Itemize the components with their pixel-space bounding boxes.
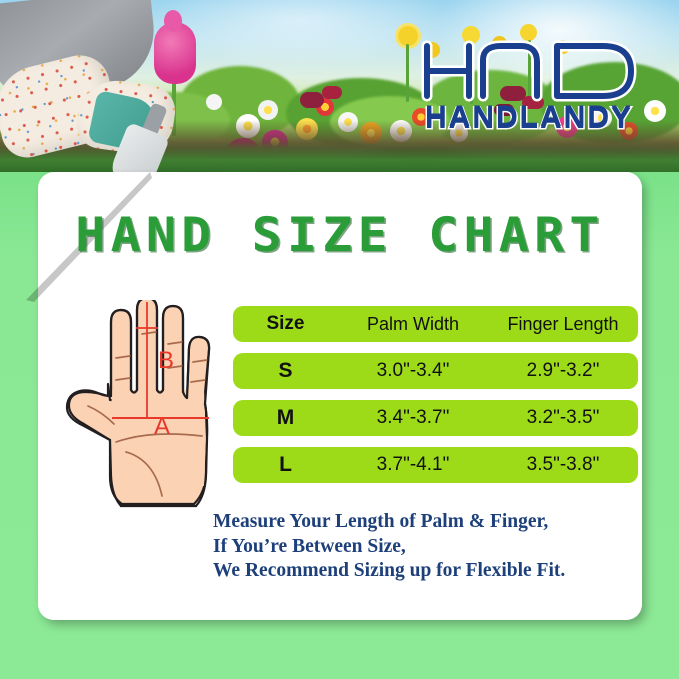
header-finger-length: Finger Length bbox=[488, 314, 638, 335]
header-palm-width: Palm Width bbox=[338, 314, 488, 335]
table-header-row: Size Palm Width Finger Length bbox=[233, 306, 638, 342]
cell-size: S bbox=[233, 359, 338, 383]
table-row: L 3.7"-4.1" 3.5"-3.8" bbox=[233, 447, 638, 483]
flower-primula bbox=[322, 86, 342, 99]
header-size: Size bbox=[233, 313, 338, 335]
flower-primula bbox=[300, 92, 324, 108]
hand-label-a: A bbox=[154, 413, 170, 440]
flower-hyacinth bbox=[164, 10, 182, 32]
sizing-note: Measure Your Length of Palm & Finger, If… bbox=[213, 510, 565, 584]
hero-banner: HANDLANDY HANDLANDY bbox=[0, 0, 679, 172]
cell-finger-length: 3.2"-3.5" bbox=[488, 407, 638, 429]
hnd-logo-mark-icon bbox=[417, 38, 641, 104]
flower-daffodil bbox=[398, 26, 418, 46]
cell-finger-length: 2.9"-3.2" bbox=[488, 360, 638, 382]
flower-stem bbox=[406, 44, 409, 102]
sizing-note-line-2: If You’re Between Size, bbox=[213, 535, 565, 560]
brand-logo: HANDLANDY HANDLANDY bbox=[417, 38, 641, 142]
flower-primula bbox=[644, 100, 666, 122]
size-table: Size Palm Width Finger Length S 3.0"-3.4… bbox=[233, 306, 638, 483]
table-row: M 3.4"-3.7" 3.2"-3.5" bbox=[233, 400, 638, 436]
brand-wordmark-fill: HANDLANDY bbox=[417, 100, 641, 134]
page-title: HAND SIZE CHART bbox=[20, 208, 660, 263]
cell-size: M bbox=[233, 406, 338, 430]
page-root: HANDLANDY HANDLANDY HAND SIZE CHART bbox=[0, 0, 679, 679]
hand-label-b: B bbox=[158, 347, 174, 374]
flower-primula bbox=[258, 100, 278, 120]
table-row: S 3.0"-3.4" 2.9"-3.2" bbox=[233, 353, 638, 389]
cell-finger-length: 3.5"-3.8" bbox=[488, 454, 638, 476]
flower-primula bbox=[206, 94, 222, 110]
cell-size: L bbox=[233, 453, 338, 477]
cell-palm-width: 3.4"-3.7" bbox=[338, 407, 488, 429]
sizing-note-line-1: Measure Your Length of Palm & Finger, bbox=[213, 510, 565, 535]
cell-palm-width: 3.0"-3.4" bbox=[338, 360, 488, 382]
sizing-note-line-3: We Recommend Sizing up for Flexible Fit. bbox=[213, 559, 565, 584]
cell-palm-width: 3.7"-4.1" bbox=[338, 454, 488, 476]
size-chart-card: HAND SIZE CHART bbox=[38, 172, 642, 620]
hand-diagram: B A bbox=[54, 300, 244, 518]
